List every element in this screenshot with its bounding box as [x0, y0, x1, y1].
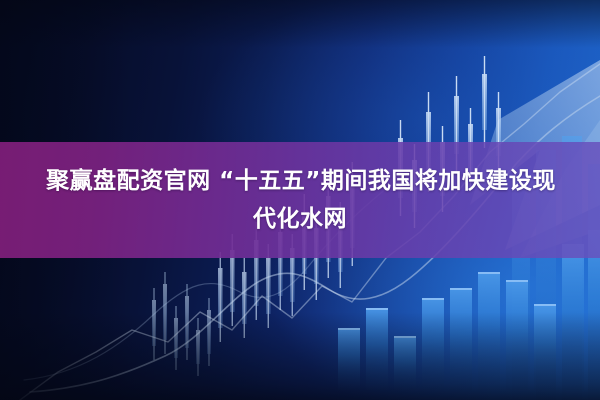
- page-title-line-1: 聚赢盘配资官网 “十五五”期间我国将加快建设现: [44, 162, 556, 200]
- title-overlay-band: 聚赢盘配资官网 “十五五”期间我国将加快建设现 代化水网: [0, 142, 600, 258]
- cover-image-canvas: 聚赢盘配资官网 “十五五”期间我国将加快建设现 代化水网: [0, 0, 600, 400]
- page-title-line-2: 代化水网: [253, 200, 347, 238]
